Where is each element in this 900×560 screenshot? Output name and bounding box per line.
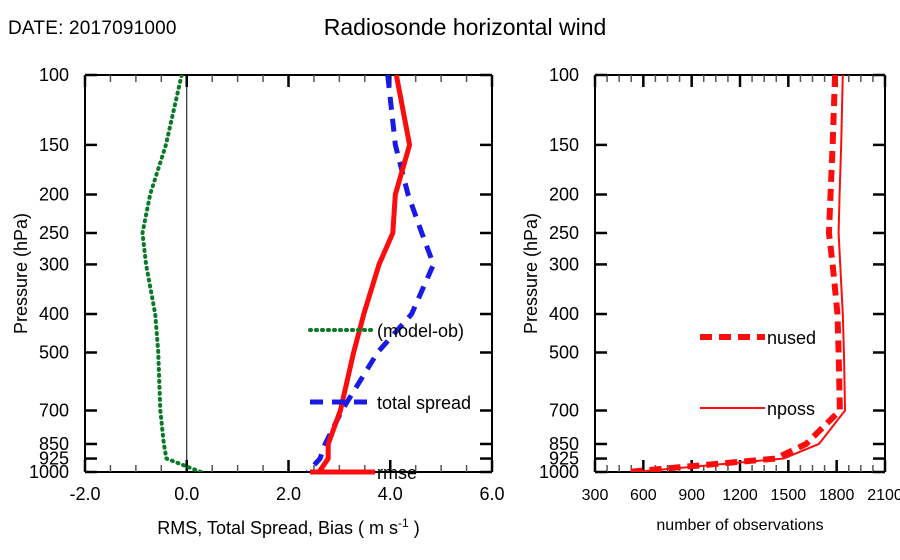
left-yaxis-title: Pressure (hPa) — [11, 213, 31, 334]
left-series-bias — [142, 75, 201, 472]
right-xaxis-title: number of observations — [656, 517, 823, 534]
right-ytick-label: 300 — [549, 254, 579, 274]
right-ytick-label: 1000 — [539, 462, 579, 482]
right-ytick-label: 100 — [549, 65, 579, 85]
left-ytick-label: 300 — [39, 254, 69, 274]
radiosonde-plot-svg: -2.00.02.04.06.0100150200250300400500700… — [0, 0, 900, 560]
left-ytick-label: 200 — [39, 185, 69, 205]
right-ytick-label: 500 — [549, 342, 579, 362]
left-xtick-label: 4.0 — [378, 484, 403, 504]
left-ytick-label: 150 — [39, 135, 69, 155]
left-ytick-label: 700 — [39, 401, 69, 421]
left-legend-label-bias: (model-ob) — [377, 321, 464, 341]
right-xtick-label: 600 — [630, 487, 657, 504]
right-yaxis-title: Pressure (hPa) — [521, 213, 541, 334]
left-ytick-label: 400 — [39, 304, 69, 324]
left-xtick-label: -2.0 — [69, 484, 100, 504]
left-legend-label-spread: total spread — [377, 393, 471, 413]
left-panel: -2.00.02.04.06.0100150200250300400500700… — [11, 65, 505, 538]
right-xtick-label: 2100 — [867, 487, 900, 504]
chart-page: DATE: 2017091000 Radiosonde horizontal w… — [0, 0, 900, 560]
left-xaxis-title: RMS, Total Spread, Bias ( m s-1 ) — [157, 516, 419, 538]
right-xtick-label: 1800 — [819, 487, 855, 504]
left-xtick-label: 2.0 — [276, 484, 301, 504]
right-legend-label-nposs: nposs — [767, 399, 815, 419]
right-ytick-label: 250 — [549, 223, 579, 243]
right-ytick-label: 200 — [549, 185, 579, 205]
right-ytick-label: 700 — [549, 401, 579, 421]
right-xtick-label: 300 — [582, 487, 609, 504]
left-legend-label-rmse: rmse — [377, 463, 417, 483]
right-ytick-label: 400 — [549, 304, 579, 324]
right-xtick-label: 1500 — [771, 487, 807, 504]
right-panel: 3006009001200150018002100100150200250300… — [521, 65, 900, 534]
right-xtick-label: 900 — [678, 487, 705, 504]
left-ytick-label: 250 — [39, 223, 69, 243]
right-ytick-label: 150 — [549, 135, 579, 155]
left-ytick-label: 100 — [39, 65, 69, 85]
left-ytick-label: 500 — [39, 342, 69, 362]
left-ytick-label: 1000 — [29, 462, 69, 482]
left-xtick-label: 0.0 — [174, 484, 199, 504]
left-xtick-label: 6.0 — [479, 484, 504, 504]
right-legend-label-nused: nused — [767, 328, 816, 348]
right-xtick-label: 1200 — [722, 487, 758, 504]
